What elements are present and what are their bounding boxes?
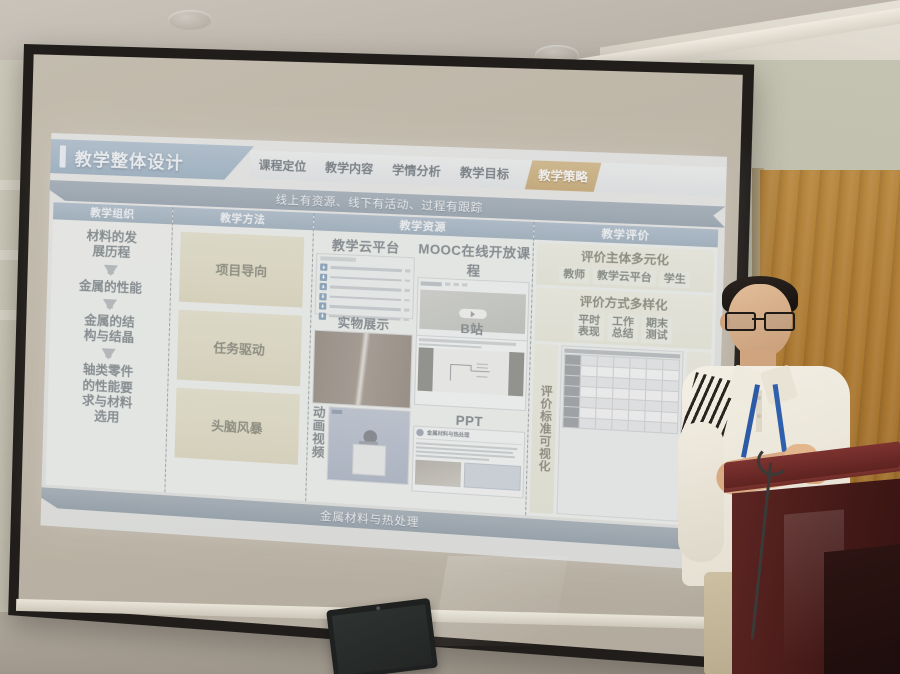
- animation-frame: [326, 406, 410, 485]
- resource-label: MOOC在线开放课程: [418, 238, 531, 282]
- evaluation-chip: 教学云平台: [592, 268, 656, 287]
- download-icon: [319, 293, 326, 301]
- slide-title-banner: 教学整体设计: [50, 139, 254, 181]
- column-resources: 教学资源 教学云平台: [306, 213, 534, 515]
- footer-band-text: 金属材料与热处理: [320, 507, 420, 530]
- method-card-list: 项目导向 任务驱动 头脑风暴: [166, 224, 313, 472]
- tab-kecheng-dingwei[interactable]: 课程定位: [258, 157, 306, 175]
- resource-cloud-platform: 教学云平台: [315, 234, 416, 314]
- arrow-down-icon: [104, 264, 118, 276]
- download-icon: [320, 263, 327, 270]
- diagram-graphic: [441, 356, 501, 386]
- download-icon: [320, 273, 327, 280]
- rubric-table-screenshot: [556, 345, 683, 522]
- evaluation-chip: 期末测试: [641, 316, 673, 345]
- podium-front-panel: [824, 544, 900, 674]
- slide-nav-tabs: 课程定位 教学内容 学情分析 教学目标 教学策略: [249, 150, 727, 197]
- room-scene: 教学整体设计 课程定位 教学内容 学情分析 教学目标 教学策略 线上有资源、线下…: [0, 0, 900, 674]
- organization-flow: 材料的发展历程 金属的性能 金属的结构与结晶 轴类零件的性能要求与材料选用: [47, 219, 172, 428]
- presentation-slide: 教学整体设计 课程定位 教学内容 学情分析 教学目标 教学策略 线上有资源、线下…: [41, 133, 728, 571]
- projector-screen: 教学整体设计 课程定位 教学内容 学情分析 教学目标 教学策略 线上有资源、线下…: [8, 44, 754, 669]
- resource-ppt: PPT 金属材料与热处理: [412, 411, 526, 496]
- resource-label: 动画视频: [310, 405, 325, 483]
- bilibili-screenshot: [414, 335, 528, 411]
- flow-node: 金属的性能: [79, 278, 142, 296]
- evaluation-chip: 教师: [559, 267, 590, 284]
- arrow-down-icon: [103, 299, 117, 311]
- flow-node: 轴类零件的性能要求与材料选用: [81, 363, 133, 427]
- left-sleeve: [678, 422, 724, 562]
- flow-node: 金属的结构与结晶: [84, 313, 135, 346]
- evaluation-chip: 工作总结: [607, 314, 638, 343]
- resource-bilibili: B站: [414, 317, 529, 414]
- flow-node: 材料的发展历程: [86, 229, 137, 262]
- resource-animation-video: 动画视频: [310, 405, 411, 489]
- tab-xueqing-fenxi[interactable]: 学情分析: [392, 162, 441, 180]
- column-organization: 教学组织 材料的发展历程 金属的性能 金属的结构与结晶 轴类零件的性能要求与材料…: [46, 202, 174, 492]
- evaluation-chip: 平时表现: [573, 312, 604, 341]
- download-icon: [319, 302, 326, 310]
- wall-reflection: [432, 556, 568, 646]
- resource-mooc: MOOC在线开放课程: [417, 238, 531, 320]
- ceiling-light-icon: [168, 10, 212, 30]
- arrow-down-icon: [101, 348, 115, 360]
- podium: [724, 452, 900, 674]
- ppt-screenshot: 金属材料与热处理: [411, 425, 525, 498]
- resource-object-display: 实物展示: [312, 312, 413, 407]
- monitor-screen: [332, 604, 433, 674]
- resource-grid: 教学云平台: [309, 234, 529, 512]
- ppt-inner-title: 金属材料与热处理: [427, 429, 470, 439]
- title-accent-bar: [59, 145, 66, 167]
- method-card: 任务驱动: [177, 310, 302, 387]
- page-title: 教学整体设计: [74, 144, 184, 173]
- slide-columns: 教学组织 材料的发展历程 金属的性能 金属的结构与结晶 轴类零件的性能要求与材料…: [46, 202, 721, 527]
- evaluation-side-label-standard: 评价标准可视化: [529, 344, 558, 514]
- column-methods: 教学方法 项目导向 任务驱动 头脑风暴: [165, 207, 314, 501]
- projection-surface: 教学整体设计 课程定位 教学内容 学情分析 教学目标 教学策略 线上有资源、线下…: [18, 54, 742, 658]
- microphone-gooseneck: [757, 446, 789, 476]
- tab-jiaoxue-mubiao[interactable]: 教学目标: [460, 164, 510, 182]
- slide-bullet-icon: [416, 429, 424, 437]
- glasses-icon: [724, 312, 796, 328]
- cloud-platform-screenshot: [315, 253, 415, 319]
- object-photo: [312, 330, 413, 409]
- method-card: 项目导向: [179, 232, 304, 308]
- tab-jiaoxue-celue[interactable]: 教学策略: [525, 160, 602, 192]
- method-card: 头脑风暴: [175, 388, 300, 465]
- download-icon: [319, 283, 326, 291]
- play-button-icon: [458, 309, 486, 320]
- table-monitor: [326, 598, 438, 674]
- tab-jiaoxue-neirong[interactable]: 教学内容: [325, 159, 374, 177]
